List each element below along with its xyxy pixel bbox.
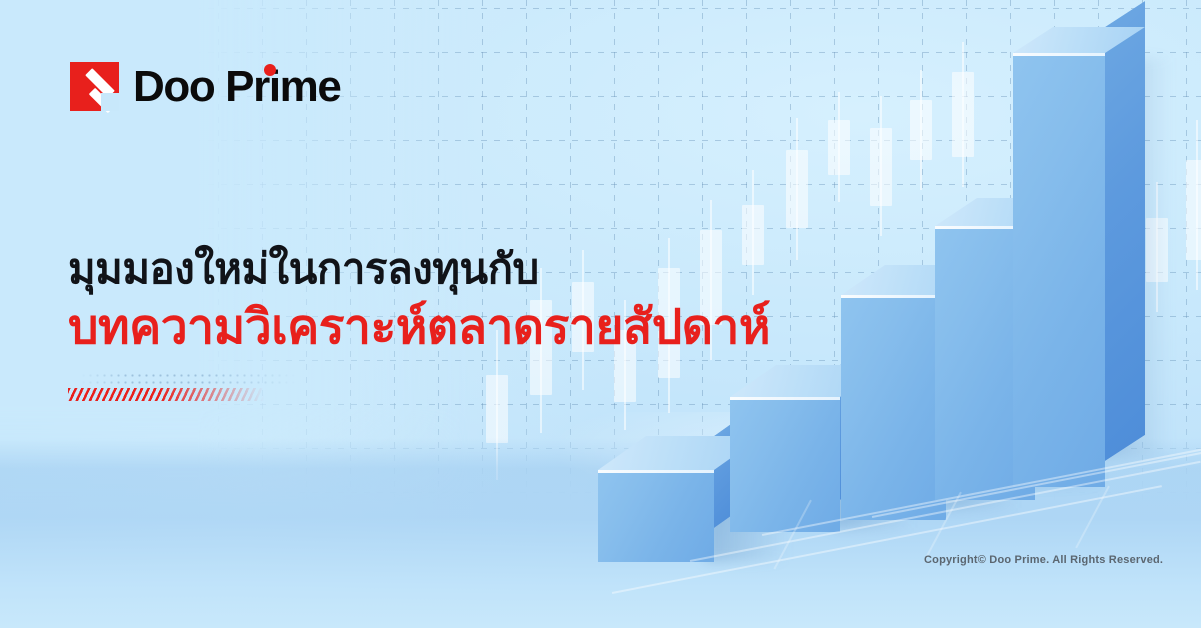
- bar-front-face: [841, 295, 946, 520]
- bar-top-highlight: [1013, 53, 1105, 56]
- bar-front-face: [598, 470, 714, 562]
- doo-prime-logo-mark-icon: [70, 62, 119, 111]
- headline-line-1: มุมมองใหม่ในการลงทุนกับ: [68, 248, 828, 290]
- brand-wordmark-text: Doo Prime: [133, 62, 340, 111]
- bar-3: [841, 295, 946, 520]
- banner-canvas: Doo Prime มุมมองใหม่ในการลงทุนกับ บทความ…: [0, 0, 1201, 628]
- bar-top-highlight: [598, 470, 714, 473]
- decorative-rule: [68, 372, 298, 406]
- bar-top-highlight: [841, 295, 946, 298]
- headline-block: มุมมองใหม่ในการลงทุนกับ บทความวิเคราะห์ต…: [68, 248, 828, 352]
- bar-1: [598, 470, 714, 562]
- bar-top-highlight: [730, 397, 840, 400]
- bar-front-face: [1013, 53, 1105, 487]
- copyright-text: Copyright© Doo Prime. All Rights Reserve…: [924, 554, 1163, 566]
- dot-texture: [80, 372, 298, 388]
- bar-side-face: [1105, 1, 1145, 461]
- bar-5: [1013, 53, 1105, 487]
- logo-accent-dot-icon: [264, 64, 276, 76]
- bar-2: [730, 397, 840, 532]
- brand-wordmark: Doo Prime: [133, 65, 340, 109]
- bar-front-face: [730, 397, 840, 532]
- diagonal-stripe-bar: [68, 388, 264, 401]
- brand-logo[interactable]: Doo Prime: [70, 62, 340, 111]
- floor-grid-line-vertical: [1075, 486, 1109, 549]
- headline-line-2: บทความวิเคราะห์ตลาดรายสัปดาห์: [68, 304, 828, 352]
